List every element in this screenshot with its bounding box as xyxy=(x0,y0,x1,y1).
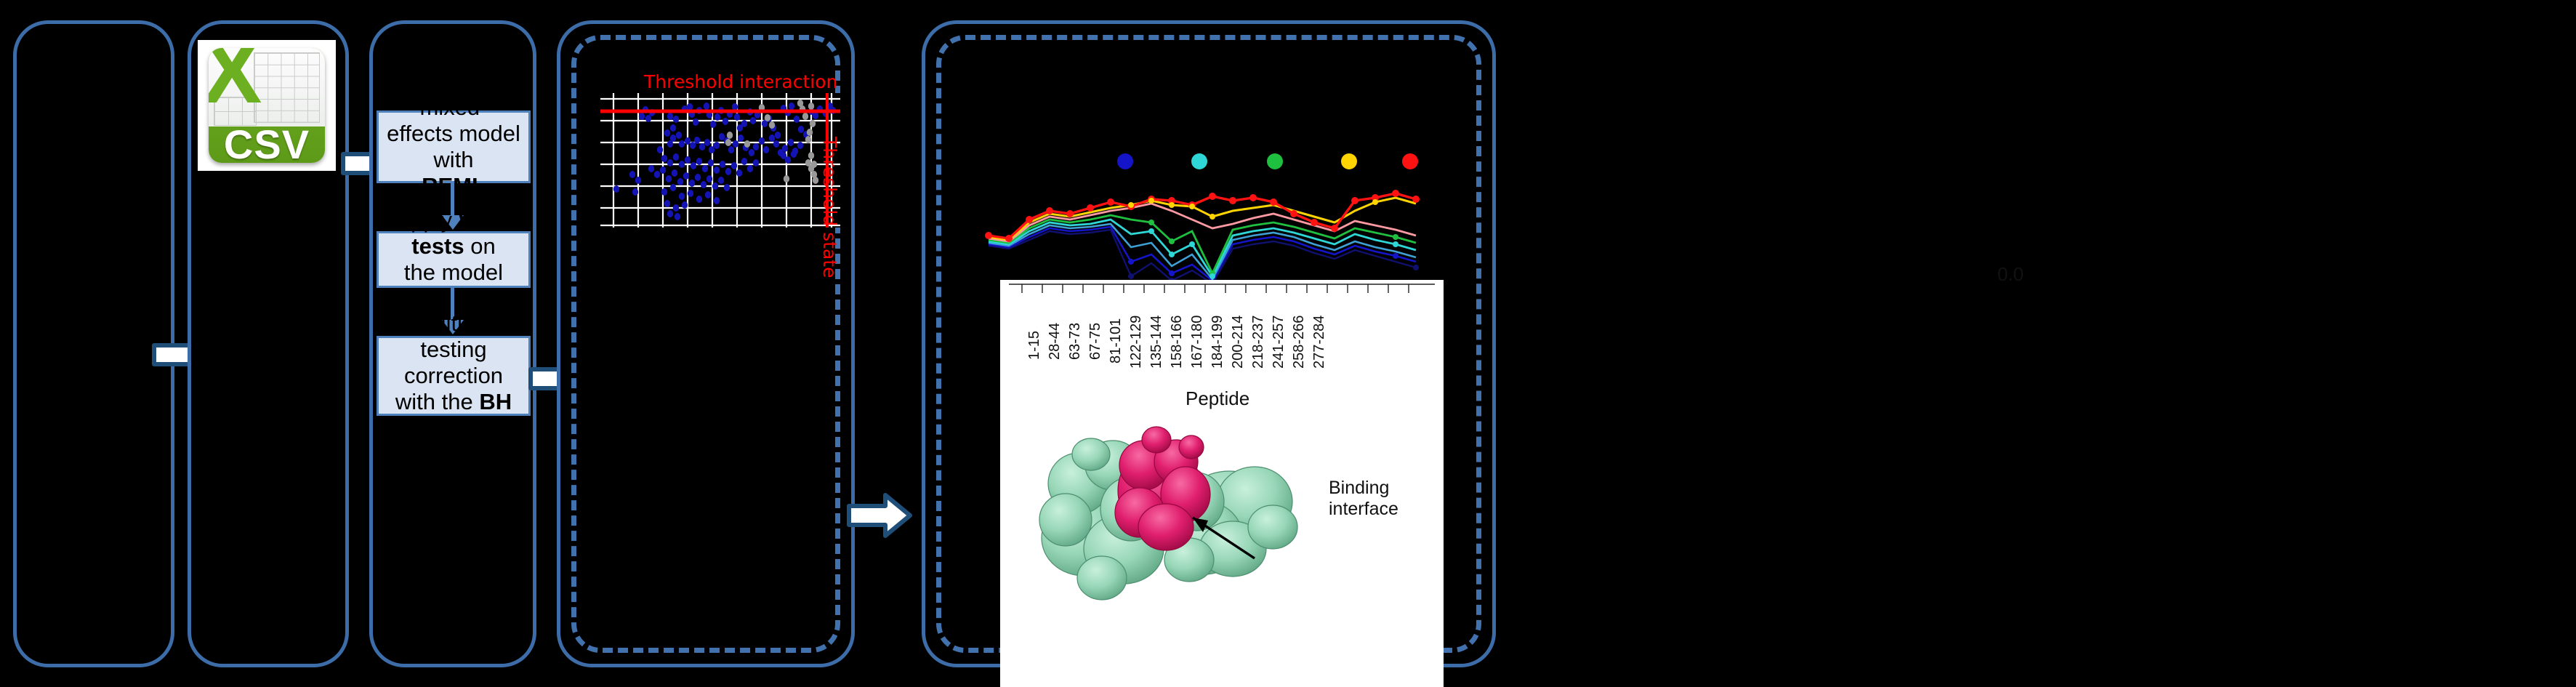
bh-line-3-pre: with the xyxy=(395,389,479,414)
threshold-interaction-label: Threshold interaction xyxy=(644,71,837,92)
legend-dot-1 xyxy=(1117,153,1133,169)
threshold-state-label: Threshold state xyxy=(819,137,840,278)
peptide-tick-label: 241-257 xyxy=(1271,316,1287,369)
reml-line-2: effects model with xyxy=(387,121,520,172)
peptide-tick-label: 184-199 xyxy=(1209,316,1226,369)
csv-spreadsheet-face: X xyxy=(209,48,325,126)
peptide-tick-label: 28-44 xyxy=(1047,323,1063,360)
peptide-tick-label: 67-75 xyxy=(1087,323,1104,360)
legend-dot-5 xyxy=(1402,153,1418,169)
peptide-axis-title: Peptide xyxy=(1186,387,1249,410)
csv-label: CSV xyxy=(209,126,325,164)
flow-arrow-4 xyxy=(846,491,913,539)
bh-line-3-post: procedure xyxy=(403,415,504,441)
wald-line-1-post: on xyxy=(464,233,496,259)
csv-file-icon: X CSV xyxy=(198,40,336,171)
workflow-diagram: X CSV Fit a linear mixed- effects model … xyxy=(0,0,2576,687)
binding-interface-line-1: Binding xyxy=(1329,478,1398,499)
empty-panel xyxy=(13,20,174,667)
step-bh-text: Multiple testing correction with the BH … xyxy=(383,310,524,441)
step-reml-box[interactable]: Fit a linear mixed- effects model with R… xyxy=(377,111,531,183)
binding-interface-annotation: Binding interface xyxy=(1329,478,1398,520)
peptide-tick-label: 218-237 xyxy=(1250,316,1267,369)
peptide-tick-label: 135-144 xyxy=(1148,316,1165,369)
peptide-tick-label: 277-284 xyxy=(1311,316,1328,369)
peptide-tick-label: 122-129 xyxy=(1128,316,1145,369)
csv-badge: X CSV xyxy=(209,48,325,163)
peptide-tick-label: 167-180 xyxy=(1189,316,1206,369)
peptide-tick-label: 63-73 xyxy=(1067,323,1084,360)
legend-dot-3 xyxy=(1267,153,1283,169)
volcano-scatter-svg xyxy=(600,93,840,228)
peptide-line-chart xyxy=(959,138,1439,287)
peptide-tick-label: 1-15 xyxy=(1026,331,1043,360)
peptide-figure-card: 1-15 28-44 63-73 67-75 81-101 122-129 13… xyxy=(1000,280,1444,687)
peptide-tick-label: 258-266 xyxy=(1291,316,1308,369)
reml-line-1: Fit a linear mixed- xyxy=(401,68,507,120)
volcano-scatter-plot xyxy=(600,93,840,228)
binding-interface-line-2: interface xyxy=(1329,499,1398,520)
protein-structure-image xyxy=(1015,414,1327,632)
wald-line-1-pre: Apply xyxy=(395,207,458,233)
legend-dot-4 xyxy=(1341,153,1357,169)
step-wald-box[interactable]: Apply Wald tests on the model parameters xyxy=(377,231,531,288)
csv-grid-main xyxy=(254,52,320,123)
legend-dot-2 xyxy=(1191,153,1207,169)
bh-strong: BH xyxy=(479,389,512,414)
peptide-tick-label: 158-166 xyxy=(1169,316,1186,369)
step-bh-box[interactable]: Multiple testing correction with the BH … xyxy=(377,336,531,416)
peptide-y-axis-tick: 0.0 xyxy=(1997,263,2024,286)
peptide-axis xyxy=(1000,280,1444,302)
bh-line-1: Multiple testing xyxy=(415,310,493,362)
bh-line-2: correction xyxy=(404,363,503,388)
peptide-tick-label: 200-214 xyxy=(1230,316,1247,369)
peptide-line-chart-svg xyxy=(959,138,1439,287)
peptide-tick-label: 81-101 xyxy=(1108,318,1124,363)
excel-x-icon: X xyxy=(211,49,252,95)
